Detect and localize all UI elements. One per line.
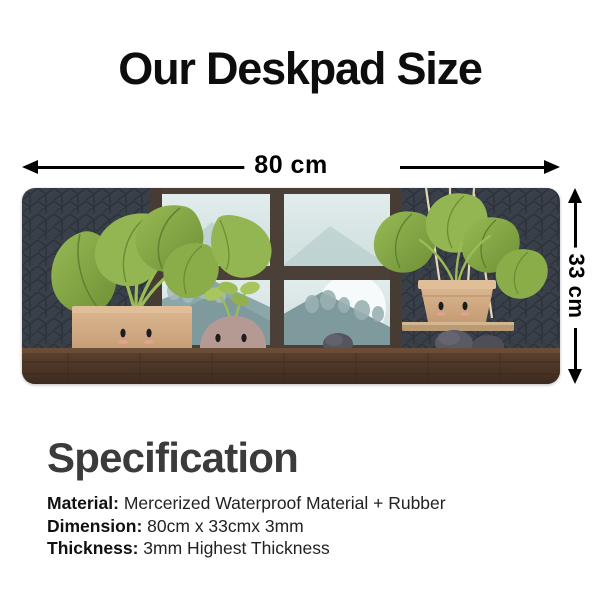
arrow-line-top <box>574 197 577 249</box>
spec-label-dimension: Dimension: <box>47 516 142 536</box>
spec-value-material: Mercerized Waterproof Material + Rubber <box>119 493 446 513</box>
specification-list: Material: Mercerized Waterproof Material… <box>47 492 567 560</box>
page-title: Our Deskpad Size <box>0 43 600 95</box>
infographic-page: Our Deskpad Size 80 cm 33 cm <box>0 0 600 600</box>
spec-row-material: Material: Mercerized Waterproof Material… <box>47 492 567 515</box>
width-dimension-arrow: 80 cm <box>22 152 560 182</box>
specification-heading: Specification <box>47 434 298 482</box>
spec-value-dimension: 80cm x 33cmx 3mm <box>142 516 303 536</box>
arrow-line-right <box>400 166 550 169</box>
height-dimension-label: 33 cm <box>560 248 592 325</box>
spec-row-thickness: Thickness: 3mm Highest Thickness <box>47 537 567 560</box>
spec-value-thickness: 3mm Highest Thickness <box>138 538 329 558</box>
arrow-head-right-icon <box>544 160 560 174</box>
deskpad-artwork-svg <box>22 188 560 384</box>
spec-label-thickness: Thickness: <box>47 538 138 558</box>
height-dimension-arrow: 33 cm <box>563 188 589 384</box>
deskpad-product-image <box>22 188 560 384</box>
arrow-line-left <box>32 166 250 169</box>
arrow-head-down-icon <box>568 369 582 384</box>
window-sill <box>22 348 560 384</box>
arrow-line-bottom <box>574 328 577 375</box>
spec-label-material: Material: <box>47 493 119 513</box>
width-dimension-label: 80 cm <box>244 150 337 180</box>
spec-row-dimension: Dimension: 80cm x 33cmx 3mm <box>47 515 567 538</box>
